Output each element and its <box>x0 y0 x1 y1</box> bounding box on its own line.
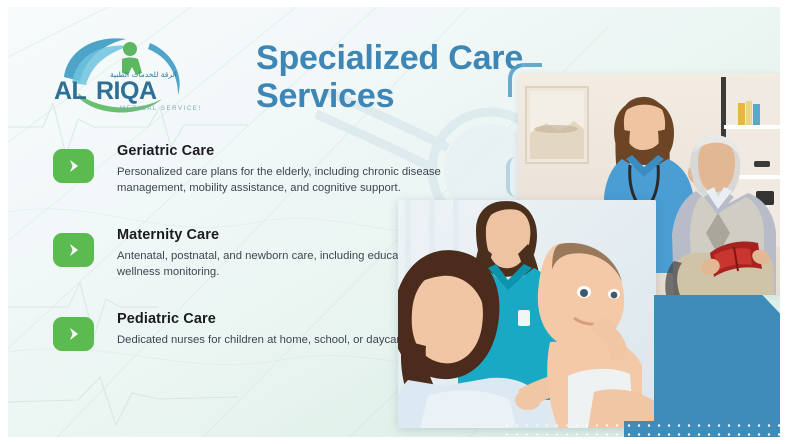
chevron-right-icon[interactable] <box>53 317 94 351</box>
dot-pattern-blue <box>624 421 780 437</box>
company-logo: الرقة للخدمات الطبية AL RIQA MEDICAL SER… <box>50 33 200 115</box>
service-item-pediatric[interactable]: Pediatric Care Dedicated nurses for chil… <box>53 311 453 348</box>
service-description: Personalized care plans for the elderly,… <box>117 164 453 196</box>
chevron-right-icon[interactable] <box>53 149 94 183</box>
dot-pattern-transition <box>602 421 626 437</box>
service-title: Geriatric Care <box>117 143 453 159</box>
service-item-maternity[interactable]: Maternity Care Antenatal, postnatal, and… <box>53 227 453 280</box>
svg-text:MEDICAL SERVICES: MEDICAL SERVICES <box>120 106 200 112</box>
maternity-photo <box>398 200 656 428</box>
slide-canvas: الرقة للخدمات الطبية AL RIQA MEDICAL SER… <box>8 7 780 437</box>
svg-text:RIQA: RIQA <box>96 77 157 105</box>
service-item-geriatric[interactable]: Geriatric Care Personalized care plans f… <box>53 143 453 196</box>
svg-text:AL: AL <box>54 77 87 105</box>
chevron-right-icon[interactable] <box>53 233 94 267</box>
blue-decorative-block <box>654 295 780 437</box>
